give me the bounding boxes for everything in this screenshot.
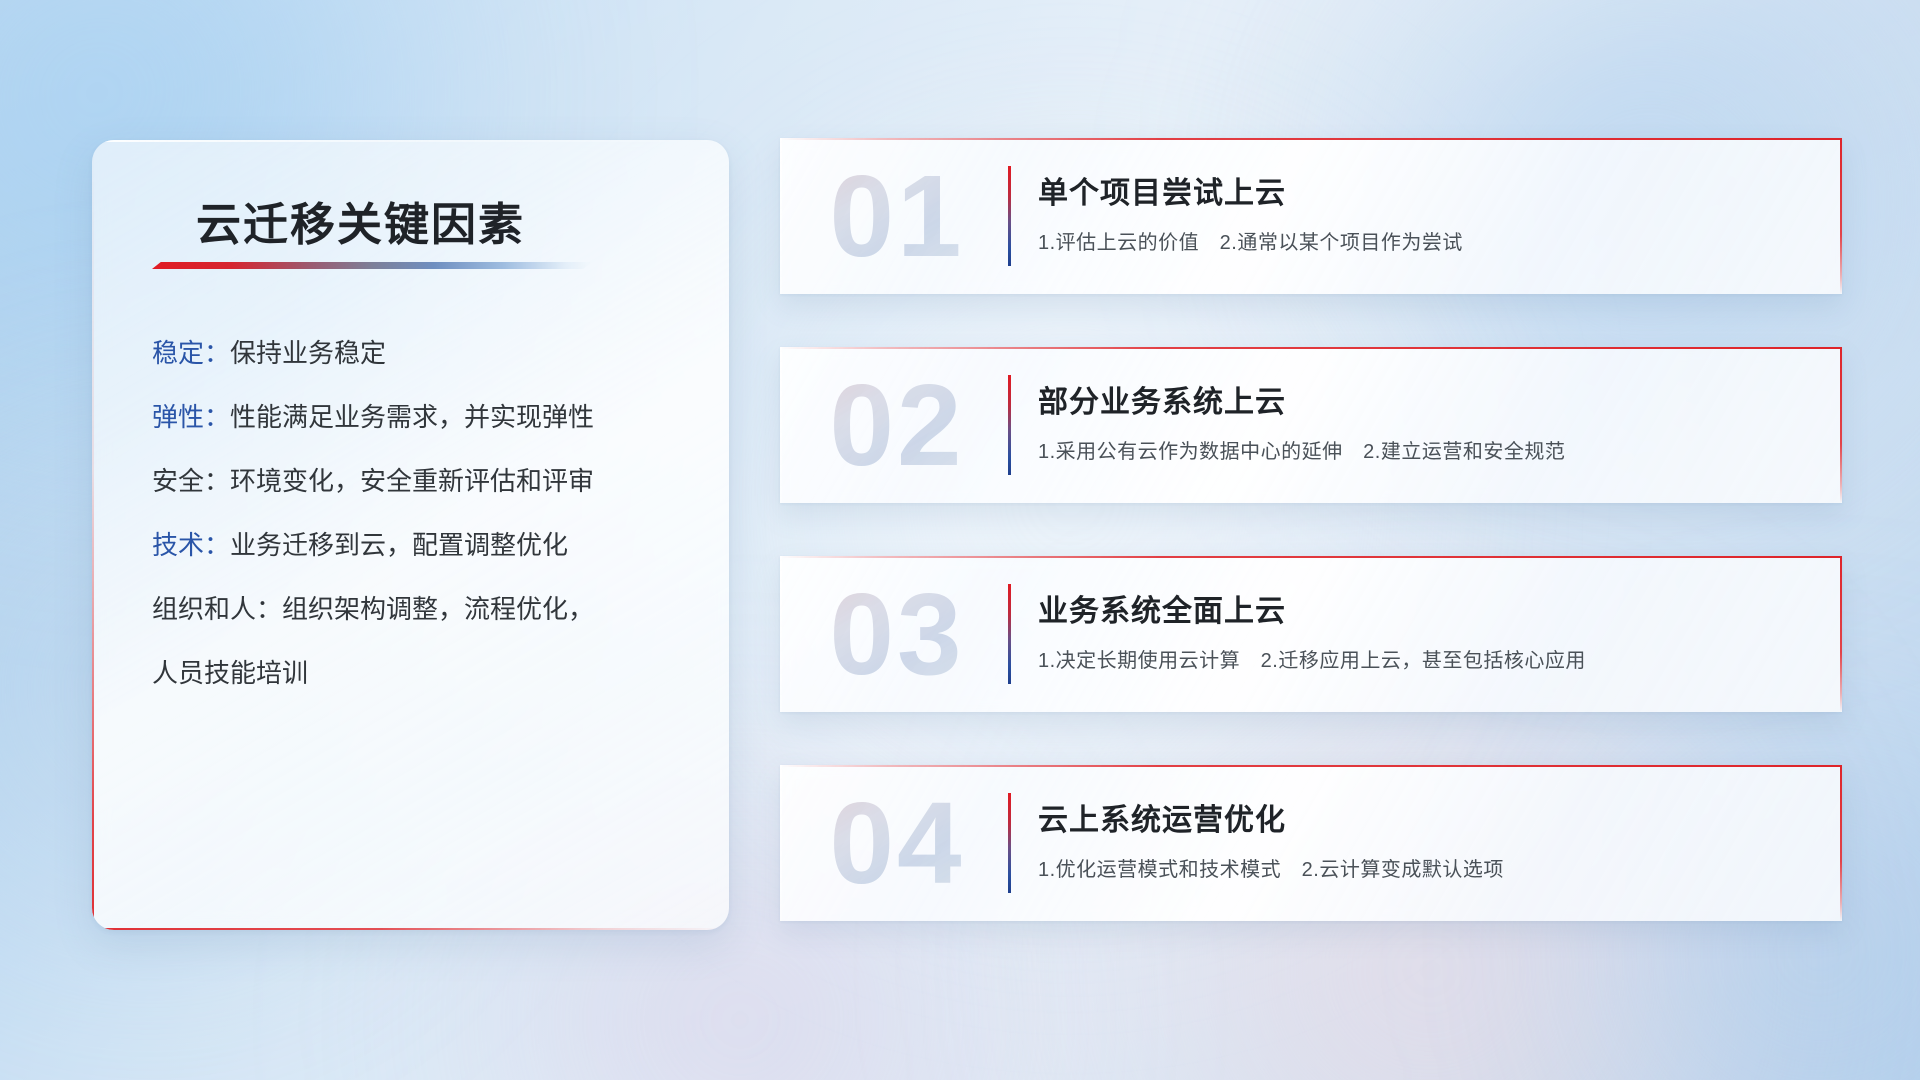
slide-stage: 云迁移关键因素 稳定：保持业务稳定弹性：性能满足业务需求，并实现弹性安全：环境变… [0, 0, 1920, 1080]
key-factor-label: 技术： [152, 530, 230, 560]
card-left-highlight [780, 138, 782, 294]
step-divider-bar [1008, 793, 1011, 893]
step-detail: 1.优化运营模式和技术模式 2.云计算变成默认选项 [1038, 853, 1504, 882]
step-detail: 1.评估上云的价值 2.通常以某个项目作为尝试 [1038, 226, 1463, 255]
step-number-watermark-tint: 01 [812, 148, 982, 284]
card-right-red-accent [1840, 765, 1842, 921]
step-detail: 1.采用公有云作为数据中心的延伸 2.建立运营和安全规范 [1038, 435, 1565, 464]
step-divider-bar [1008, 375, 1011, 475]
key-factor-label: 稳定： [152, 338, 230, 368]
key-factor-text: 环境变化，安全重新评估和评审 [230, 466, 594, 496]
step-title: 业务系统全面上云 [1038, 586, 1286, 630]
card-right-red-accent [1840, 347, 1842, 503]
card-left-highlight [780, 347, 782, 503]
migration-steps-list: 0101单个项目尝试上云1.评估上云的价值 2.通常以某个项目作为尝试0202部… [780, 138, 1842, 974]
card-right-red-accent [1840, 138, 1842, 294]
panel-title: 云迁移关键因素 [196, 188, 525, 253]
migration-step-card[interactable]: 0101单个项目尝试上云1.评估上云的价值 2.通常以某个项目作为尝试 [780, 138, 1842, 294]
key-factor-row: 稳定：保持业务稳定 [152, 340, 693, 366]
card-left-highlight [780, 556, 782, 712]
key-factor-label: 安全： [152, 466, 230, 496]
key-factor-label: 组织和人： [152, 594, 282, 624]
step-divider-bar [1008, 166, 1011, 266]
panel-bottom-red-accent [92, 928, 729, 930]
step-divider-bar [1008, 584, 1011, 684]
key-factor-row: 组织和人：组织架构调整，流程优化， [152, 596, 693, 622]
migration-step-card[interactable]: 0303业务系统全面上云1.决定长期使用云计算 2.迁移应用上云，甚至包括核心应… [780, 556, 1842, 712]
card-left-highlight [780, 765, 782, 921]
step-number-watermark-tint: 03 [812, 566, 982, 702]
migration-step-card[interactable]: 0202部分业务系统上云1.采用公有云作为数据中心的延伸 2.建立运营和安全规范 [780, 347, 1842, 503]
card-right-red-accent [1840, 556, 1842, 712]
card-top-red-accent [780, 138, 1842, 140]
card-top-red-accent [780, 556, 1842, 558]
key-factors-panel: 云迁移关键因素 稳定：保持业务稳定弹性：性能满足业务需求，并实现弹性安全：环境变… [92, 140, 729, 930]
panel-left-red-accent [92, 140, 94, 930]
key-factor-row: 技术：业务迁移到云，配置调整优化 [152, 532, 693, 558]
key-factor-row: 人员技能培训 [152, 660, 693, 686]
step-title: 部分业务系统上云 [1038, 377, 1286, 421]
key-factors-list: 稳定：保持业务稳定弹性：性能满足业务需求，并实现弹性安全：环境变化，安全重新评估… [152, 340, 693, 724]
key-factor-label: 弹性： [152, 402, 230, 432]
key-factor-row: 弹性：性能满足业务需求，并实现弹性 [152, 404, 693, 430]
step-title: 单个项目尝试上云 [1038, 168, 1286, 212]
step-number-watermark-tint: 04 [812, 775, 982, 911]
step-title: 云上系统运营优化 [1038, 795, 1286, 839]
key-factor-text: 性能满足业务需求，并实现弹性 [230, 402, 594, 432]
key-factor-row: 安全：环境变化，安全重新评估和评审 [152, 468, 693, 494]
key-factor-text: 人员技能培训 [152, 658, 308, 688]
step-detail: 1.决定长期使用云计算 2.迁移应用上云，甚至包括核心应用 [1038, 644, 1586, 673]
panel-title-underline [152, 262, 592, 269]
panel-top-highlight [92, 140, 729, 142]
card-top-red-accent [780, 765, 1842, 767]
key-factor-text: 业务迁移到云，配置调整优化 [230, 530, 568, 560]
migration-step-card[interactable]: 0404云上系统运营优化1.优化运营模式和技术模式 2.云计算变成默认选项 [780, 765, 1842, 921]
card-top-red-accent [780, 347, 1842, 349]
key-factor-text: 保持业务稳定 [230, 338, 386, 368]
key-factor-text: 组织架构调整，流程优化， [282, 594, 594, 624]
step-number-watermark-tint: 02 [812, 357, 982, 493]
